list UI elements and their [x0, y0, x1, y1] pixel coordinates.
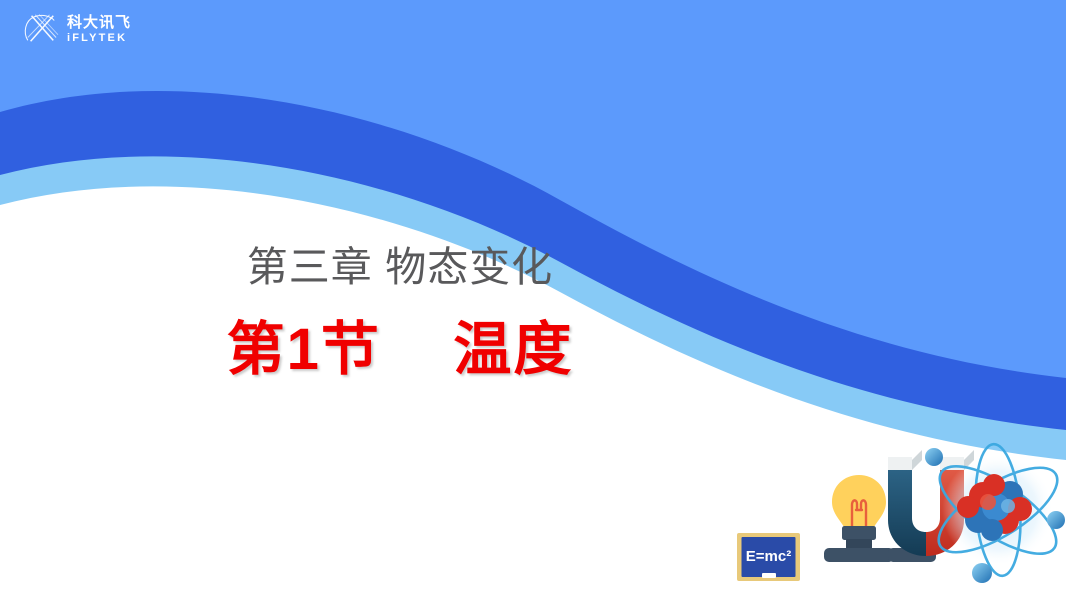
chapter-title: 第三章 物态变化 [0, 243, 800, 292]
brand-name-cn: 科大讯飞 [67, 15, 131, 30]
blackboard-formula: E=mc² [746, 548, 791, 565]
iflytek-x-logo-icon [22, 12, 60, 46]
section-title: 第1节 温度 [0, 314, 800, 387]
brand-logo: 科大讯飞 iFLYTEK [22, 12, 131, 46]
title-slide: 科大讯飞 iFLYTEK 第三章 物态变化 第1节 温度 [0, 0, 1066, 600]
brand-logo-text: 科大讯飞 iFLYTEK [67, 15, 131, 44]
brand-name-en: iFLYTEK [67, 33, 131, 44]
title-block: 第三章 物态变化 第1节 温度 [0, 243, 800, 387]
physics-illustration: E=mc² [720, 410, 1066, 600]
blackboard-icon: E=mc² [737, 533, 800, 581]
